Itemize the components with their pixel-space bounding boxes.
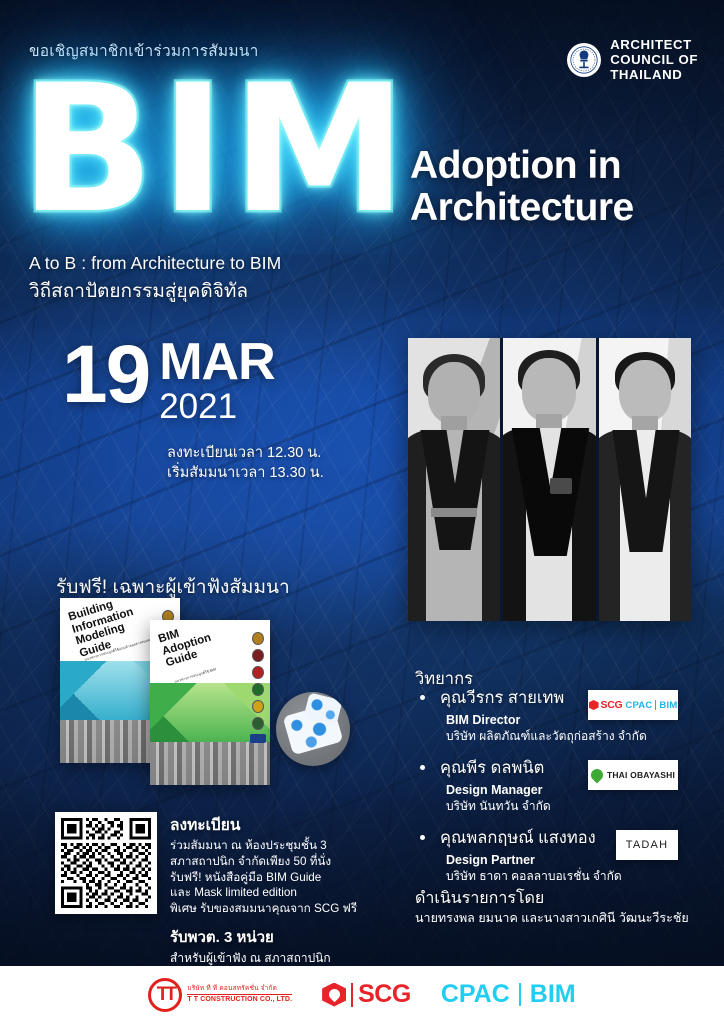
obayashi-label: THAI OBAYASHI xyxy=(607,770,675,780)
cpac-bim-divider xyxy=(519,983,521,1006)
speaker-item: คุณพลกฤษณ์ แสงทอง Design Partner บริษัท … xyxy=(415,828,715,884)
bullet-icon xyxy=(420,835,425,840)
registration-details: ร่วมสัมมนา ณ ห้องประชุมชั้น 3 สภาสถาปนิก… xyxy=(170,838,385,917)
cpac-label: CPAC xyxy=(625,700,652,711)
act-line-1: ARCHITECT xyxy=(610,38,698,53)
event-times: ลงทะเบียนเวลา 12.30 น. เริ่มสัมมนาเวลา 1… xyxy=(167,443,324,483)
credit-detail: สำหรับผู้เข้าฟัง ณ สภาสถาปนิก xyxy=(170,950,385,966)
tt-rule xyxy=(187,994,292,995)
tt-logo-text: บริษัท ที ที คอนสทรัคชั่น จำกัด T T CONS… xyxy=(187,985,292,1005)
tt-mark-icon: TT xyxy=(148,978,182,1012)
scg-footer-logo: SCG xyxy=(322,980,411,1009)
tt-english-name: T T CONSTRUCTION CO., LTD. xyxy=(187,996,292,1005)
bullet-icon xyxy=(420,695,425,700)
scg-cpac-bim-logo: SCG CPAC BIM xyxy=(588,690,678,720)
act-logo-text: ARCHITECT COUNCIL OF THAILAND xyxy=(610,38,698,82)
tadah-label: TADAH xyxy=(626,839,668,851)
act-line-3: THAILAND xyxy=(610,68,698,83)
speaker-photos xyxy=(408,338,691,621)
tt-construction-logo: TT บริษัท ที ที คอนสทรัคชั่น จำกัด T T C… xyxy=(148,978,292,1012)
gift-books: BuildingInformationModelingGuide แนวทางก… xyxy=(60,598,300,776)
sponsor-footer: TT บริษัท ที ที คอนสทรัคชั่น จำกัด T T C… xyxy=(0,966,724,1023)
bim-footer-label: BIM xyxy=(530,980,576,1009)
subtitle-english: A to B : from Architecture to BIM xyxy=(29,253,281,274)
bim-label: BIM xyxy=(659,700,677,711)
speaker-item: คุณวีรกร สายเทพ BIM Director บริษัท ผลิต… xyxy=(415,688,715,744)
date-month: MAR xyxy=(159,339,274,386)
tt-mark-letters: TT xyxy=(157,985,174,1004)
headline-line-2: Architecture xyxy=(410,187,634,229)
speakers-list: คุณวีรกร สายเทพ BIM Director บริษัท ผลิต… xyxy=(415,688,715,898)
credit-heading: รับพวต. 3 หน่วย xyxy=(170,925,385,949)
tt-thai-name: บริษัท ที ที คอนสทรัคชั่น จำกัด xyxy=(187,985,292,993)
cpac-bim-footer-logo: CPAC BIM xyxy=(441,980,576,1009)
book-2-seals xyxy=(250,632,266,743)
date-year: 2021 xyxy=(159,388,274,427)
poster-headline: Adoption in Architecture xyxy=(410,145,634,229)
scg-label: SCG xyxy=(601,699,623,711)
neon-bim-title: BIM xyxy=(20,62,413,238)
speaker-photo-1 xyxy=(408,338,500,621)
speaker-org: บริษัท ผลิตภัณฑ์และวัตถุก่อสร้าง จำกัด xyxy=(446,729,715,745)
qr-code[interactable] xyxy=(55,812,157,914)
speaker-org: บริษัท ธาดา คอลลาบอเรชั่น จำกัด xyxy=(446,869,715,885)
speaker-org: บริษัท นันทวัน จำกัด xyxy=(446,799,715,815)
logo-divider xyxy=(655,700,656,710)
seminar-poster: ขอเชิญสมาชิกเข้าร่วมการสัมมนา ARCHITECT … xyxy=(0,0,724,1023)
scg-footer-label: SCG xyxy=(358,980,411,1009)
act-logo: ARCHITECT COUNCIL OF THAILAND xyxy=(567,38,698,82)
registration-block: ลงทะเบียน ร่วมสัมมนา ณ ห้องประชุมชั้น 3 … xyxy=(170,812,385,966)
tadah-logo: TADAH xyxy=(616,830,678,860)
date-month-year: MAR 2021 xyxy=(159,337,274,426)
act-line-2: COUNCIL OF xyxy=(610,53,698,68)
speaker-photo-3 xyxy=(599,338,691,621)
time-registration: ลงทะเบียนเวลา 12.30 น. xyxy=(167,443,324,463)
time-start: เริ่มสัมมนาเวลา 13.30 น. xyxy=(167,463,324,483)
thai-obayashi-logo: THAI OBAYASHI xyxy=(588,760,678,790)
scg-hexagon-icon xyxy=(322,983,346,1007)
scg-logo-icon: SCG xyxy=(589,699,623,711)
bullet-icon xyxy=(420,765,425,770)
speaker-photo-2 xyxy=(503,338,595,621)
event-date: 19 MAR 2021 xyxy=(62,337,275,426)
date-day: 19 xyxy=(62,337,149,412)
book-bim-adoption-guide: BIMAdoptionGuide แนวทางการประยุกต์ใช้ BI… xyxy=(150,620,270,785)
cpac-footer-label: CPAC xyxy=(441,980,510,1009)
mc-names: นายทรงพล ยมนาค และนางสาวเกศินี วัฒนะวีระ… xyxy=(415,908,689,928)
mask-gift-image xyxy=(276,692,350,766)
headline-line-1: Adoption in xyxy=(410,145,634,187)
obayashi-drop-icon xyxy=(588,767,605,784)
speaker-item: คุณพีร ดลพนิต Design Manager บริษัท นันท… xyxy=(415,758,715,814)
subtitle-thai: วิถีสถาปัตยกรรมสู่ยุคดิจิทัล xyxy=(29,276,248,306)
scg-hexagon-icon xyxy=(589,700,599,710)
act-seal-icon xyxy=(567,43,601,77)
registration-heading: ลงทะเบียน xyxy=(170,812,385,837)
scg-divider xyxy=(351,983,353,1007)
